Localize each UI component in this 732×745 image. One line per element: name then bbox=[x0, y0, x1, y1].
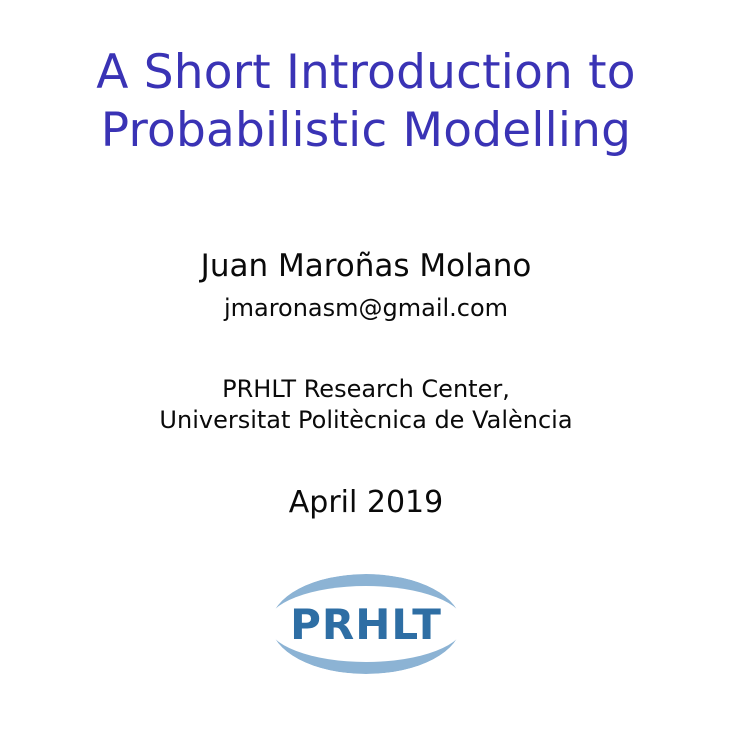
title-line-2: Probabilistic Modelling bbox=[0, 102, 732, 160]
date-block: April 2019 bbox=[0, 484, 732, 522]
presentation-date: April 2019 bbox=[0, 484, 732, 522]
author-name: Juan Maroñas Molano bbox=[0, 246, 732, 286]
affiliation-block: PRHLT Research Center, Universitat Polit… bbox=[0, 374, 732, 436]
title-line-1: A Short Introduction to bbox=[0, 44, 732, 102]
page-title: A Short Introduction to Probabilistic Mo… bbox=[0, 44, 732, 160]
title-slide: A Short Introduction to Probabilistic Mo… bbox=[0, 0, 732, 745]
logo-wordmark: PRHLT bbox=[290, 600, 442, 649]
logo-block: PRHLT bbox=[0, 570, 732, 678]
affiliation-line-2: Universitat Politècnica de València bbox=[0, 405, 732, 436]
affiliation-line-1: PRHLT Research Center, bbox=[0, 374, 732, 405]
author-email: jmaronasm@gmail.com bbox=[0, 292, 732, 324]
prhlt-logo-icon: PRHLT bbox=[268, 570, 464, 678]
author-block: Juan Maroñas Molano jmaronasm@gmail.com bbox=[0, 246, 732, 324]
